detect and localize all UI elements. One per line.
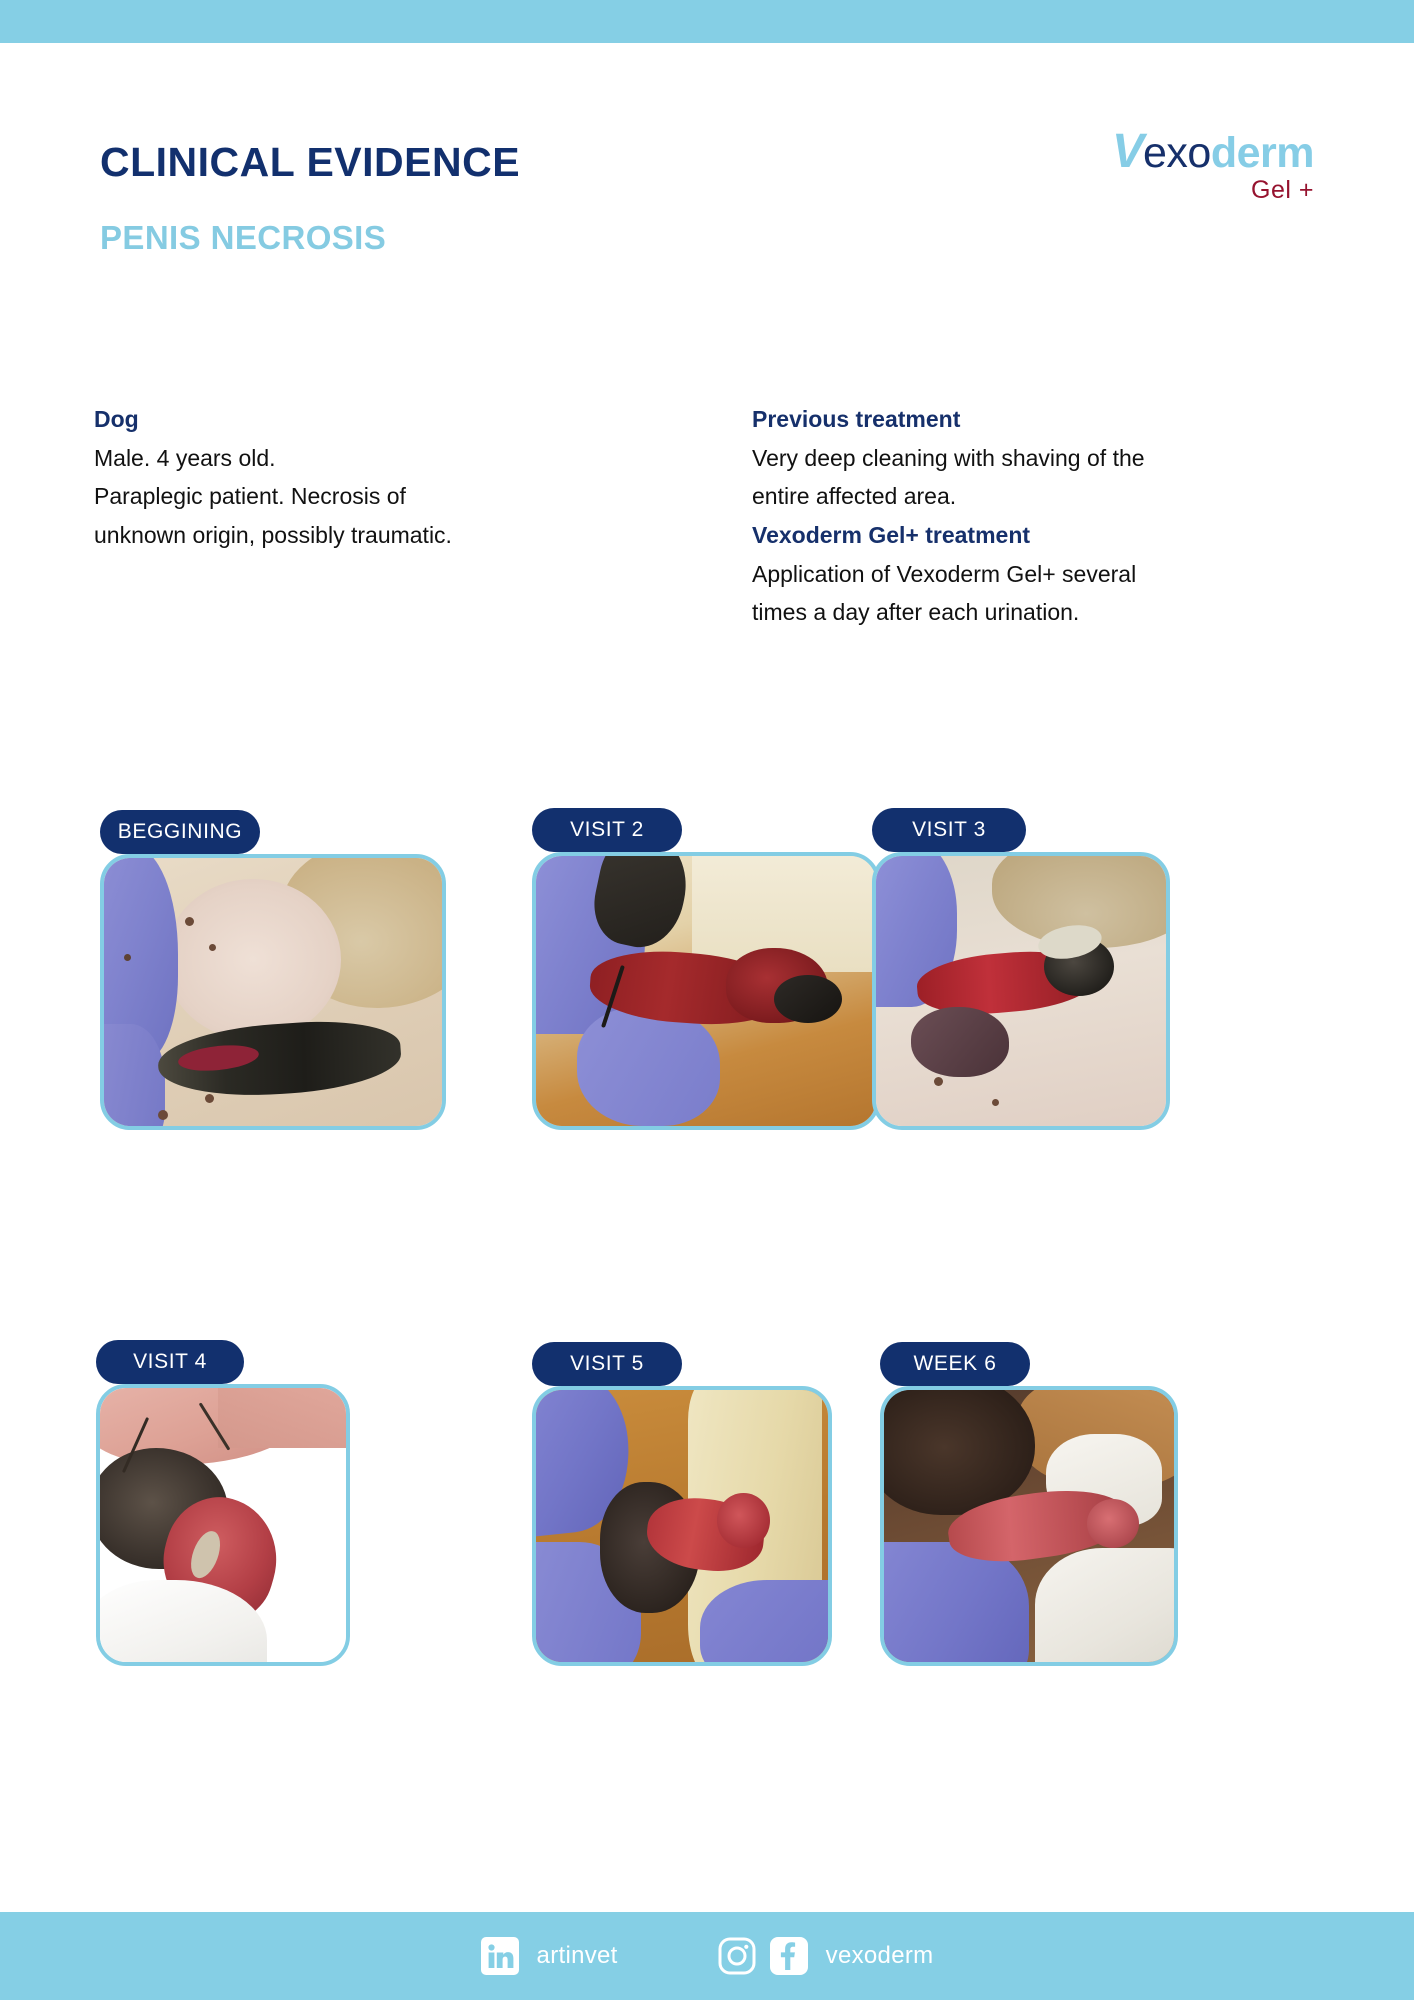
photo-badge-3: VISIT 3 [872,808,1026,852]
footer-linkedin-group[interactable]: artinvet [481,1937,618,1975]
patient-heading: Dog [94,400,614,439]
patient-line-2: Paraplegic patient. Necrosis of [94,477,614,516]
previous-treatment-heading: Previous treatment [752,400,1352,439]
clinical-photo-4[interactable] [96,1384,350,1666]
clinical-photo-6[interactable] [880,1386,1178,1666]
photo-badge-5: VISIT 5 [532,1342,682,1386]
vexoderm-logo: Vexoderm Gel + [1112,128,1314,203]
photo-badge-6: WEEK 6 [880,1342,1030,1386]
photo-badge-2: VISIT 2 [532,808,682,852]
vexoderm-treatment-heading: Vexoderm Gel+ treatment [752,516,1352,555]
logo-sublabel-gelplus: Gel + [1112,178,1314,203]
logo-wordmark: Vexoderm [1112,128,1314,176]
photo-badge-1: BEGGINING [100,810,260,854]
footer-social-row: artinvet vexoderm [0,1912,1414,2000]
photo-image-4 [100,1388,346,1662]
photo-badge-4: VISIT 4 [96,1340,244,1384]
linkedin-handle: artinvet [537,1942,618,1970]
footer-facebook-group[interactable]: vexoderm [770,1937,934,1975]
clinical-photo-1[interactable] [100,854,446,1130]
clinical-photo-2[interactable] [532,852,880,1130]
vexoderm-treatment-line-2: times a day after each urination. [752,593,1352,632]
previous-treatment-line-2: entire affected area. [752,477,1352,516]
page-title: CLINICAL EVIDENCE [100,142,520,183]
facebook-icon[interactable] [770,1937,808,1975]
clinical-photo-3[interactable] [872,852,1170,1130]
photo-image-3 [876,856,1166,1126]
top-accent-bar [0,0,1414,43]
photo-image-2 [536,856,876,1126]
patient-info-block: Dog Male. 4 years old. Paraplegic patien… [94,400,614,555]
vexoderm-treatment-line-1: Application of Vexoderm Gel+ several [752,555,1352,594]
logo-part-exo: exo [1143,129,1211,177]
previous-treatment-line-1: Very deep cleaning with shaving of the [752,439,1352,478]
logo-letter-v: V [1112,125,1143,178]
linkedin-icon[interactable] [481,1937,519,1975]
photo-image-6 [884,1390,1174,1662]
photo-image-1 [104,858,442,1126]
treatment-info-block: Previous treatment Very deep cleaning wi… [752,400,1352,632]
social-handle: vexoderm [826,1942,934,1970]
footer-instagram-group[interactable] [718,1937,756,1975]
instagram-icon[interactable] [718,1937,756,1975]
patient-line-1: Male. 4 years old. [94,439,614,478]
photo-image-5 [536,1390,828,1662]
patient-line-3: unknown origin, possibly traumatic. [94,516,614,555]
clinical-photo-5[interactable] [532,1386,832,1666]
logo-part-derm: derm [1211,129,1314,177]
page-subtitle: PENIS NECROSIS [100,221,386,254]
